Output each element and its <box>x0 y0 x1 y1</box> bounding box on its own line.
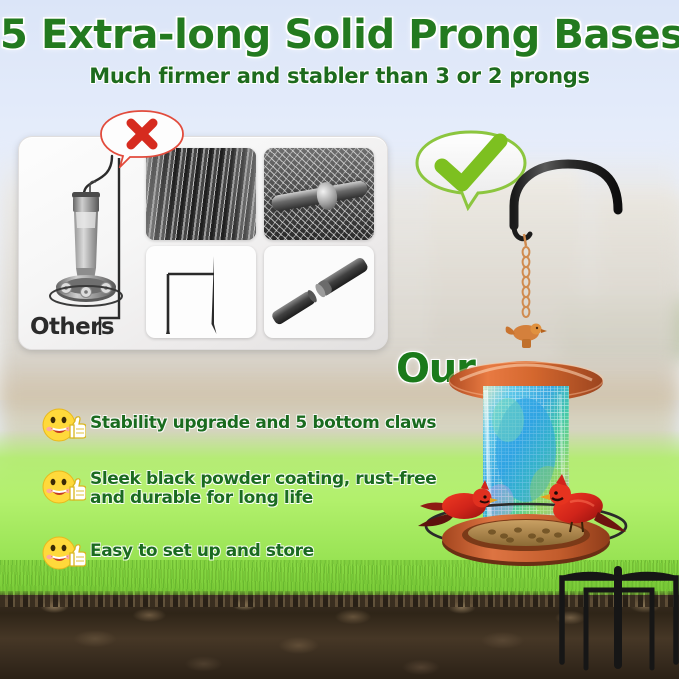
page-subtitle: Much firmer and stabler than 3 or 2 pron… <box>0 64 679 88</box>
disconnected-tube-icon <box>264 246 374 338</box>
feature-label-3: Easy to set up and store <box>90 534 314 561</box>
competitor-thumb-disconnected-tube <box>264 246 374 338</box>
bird-finial-ornament <box>506 324 547 349</box>
x-mark-speech-bubble <box>98 108 186 168</box>
competitor-thumb-two-prong-stake <box>146 246 256 338</box>
two-prong-stake-icon <box>146 246 256 338</box>
competitor-thumb-rusty-joint <box>264 148 374 240</box>
five-prong-base <box>562 570 676 668</box>
smiley-thumbs-up-icon <box>42 468 86 506</box>
page-title: 5 Extra-long Solid Prong Bases <box>0 12 679 58</box>
competitor-thumbnail-grid <box>146 148 378 340</box>
feature-label-2: Sleek black powder coating, rust-free an… <box>90 468 436 508</box>
smiley-thumbs-up-icon <box>42 406 86 444</box>
competitor-label: Others <box>30 314 114 340</box>
bird-seed <box>468 520 584 546</box>
smiley-thumbs-up-icon <box>42 534 86 572</box>
feature-item-2: Sleek black powder coating, rust-free an… <box>42 468 436 508</box>
infographic-canvas: 5 Extra-long Solid Prong Bases Much firm… <box>0 0 679 679</box>
feature-label-1: Stability upgrade and 5 bottom claws <box>90 406 436 433</box>
product-photo-group <box>400 150 679 679</box>
feature-item-1: Stability upgrade and 5 bottom claws <box>42 406 436 444</box>
feature-item-3: Easy to set up and store <box>42 534 314 572</box>
